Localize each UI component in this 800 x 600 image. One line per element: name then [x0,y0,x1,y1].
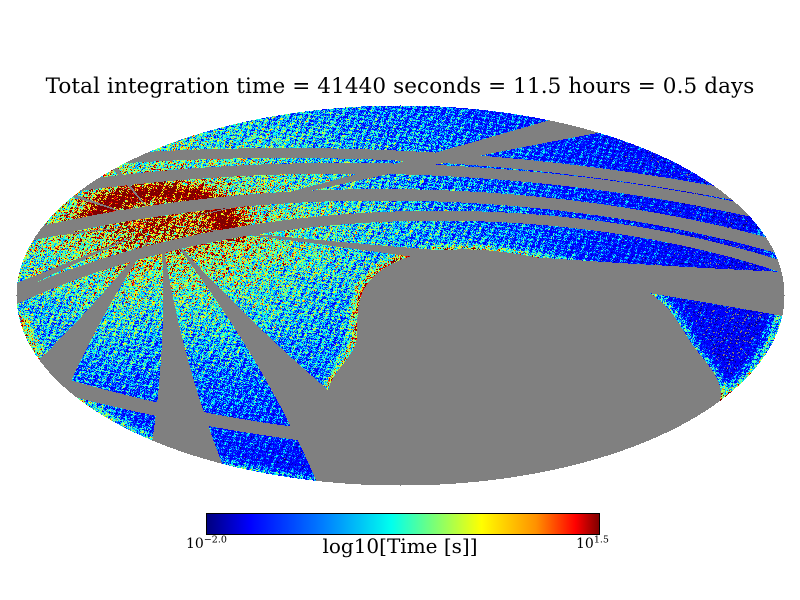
colorbar[interactable] [206,513,600,535]
sky-map-figure: Total integration time = 41440 seconds =… [0,0,800,600]
colorbar-gradient [206,513,600,535]
colorbar-axis-label: log10[Time [s]] [0,534,800,558]
page-title: Total integration time = 41440 seconds =… [0,74,800,99]
